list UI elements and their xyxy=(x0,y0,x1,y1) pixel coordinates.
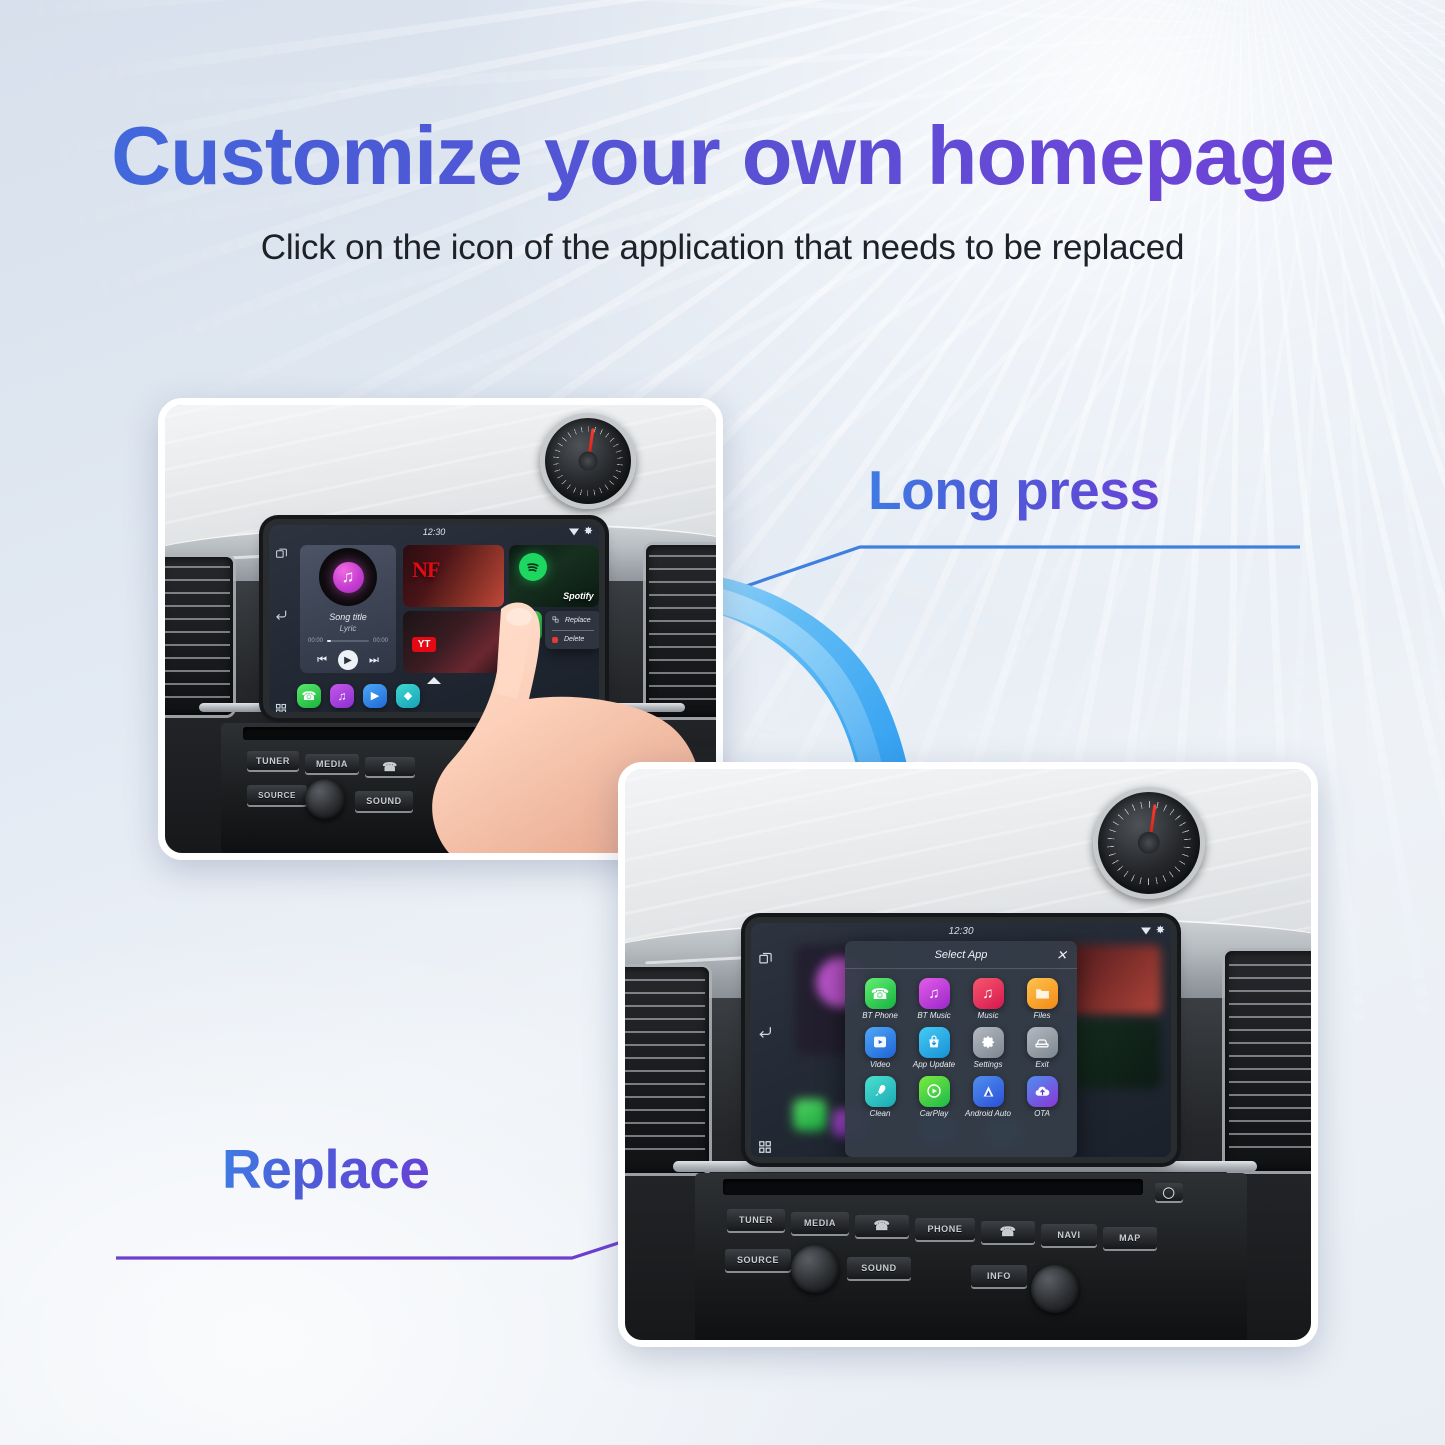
app-android-auto-label: Android Auto xyxy=(965,1110,1011,1119)
netflix-badge: NF xyxy=(412,557,439,583)
sidebar-two xyxy=(751,923,779,1157)
spotify-tile[interactable]: Spotify xyxy=(509,545,599,607)
dock-bt-phone[interactable]: ☎ xyxy=(297,684,321,708)
head-unit-screen-two: 12:30 ✸ xyxy=(751,923,1171,1157)
app-music-label: Music xyxy=(978,1012,999,1021)
tuner-button[interactable]: TUNER xyxy=(247,751,299,770)
media-button[interactable]: MEDIA xyxy=(305,754,359,773)
dock-bt-music[interactable]: ♫ xyxy=(330,684,354,708)
context-menu-replace[interactable]: Replace xyxy=(545,611,599,630)
status-bar-two: 12:30 ✸ xyxy=(751,923,1171,939)
progress-bar[interactable] xyxy=(327,640,369,642)
gear-icon xyxy=(973,1027,1004,1058)
wifi-icon xyxy=(1141,928,1151,935)
app-settings-label: Settings xyxy=(974,1061,1003,1070)
car-icon xyxy=(1027,1027,1058,1058)
source-button[interactable]: SOURCE xyxy=(247,785,307,805)
play-square-icon xyxy=(865,1027,896,1058)
app-video-label: Video xyxy=(870,1061,890,1070)
app-music[interactable]: ♫ Music xyxy=(961,978,1015,1021)
info-knob[interactable] xyxy=(1031,1265,1079,1313)
app-exit[interactable]: Exit xyxy=(1015,1027,1069,1070)
rocket-icon xyxy=(865,1076,896,1107)
radio-panel-one: TUNER MEDIA ☎ SOURCE SOUND xyxy=(221,723,641,853)
music-note-icon: ♫ xyxy=(333,562,364,593)
dialog-header: Select App ✕ xyxy=(845,941,1077,969)
air-vent-left-two xyxy=(625,967,709,1173)
dock-one[interactable]: ☎ ♫ ▶ ◆ xyxy=(269,682,599,712)
air-vent-right xyxy=(646,545,716,717)
bag-download-icon xyxy=(919,1027,950,1058)
context-menu-delete-label: Delete xyxy=(564,636,584,643)
tuner-button-two[interactable]: TUNER xyxy=(727,1209,785,1231)
app-exit-label: Exit xyxy=(1035,1061,1048,1070)
sound-button[interactable]: SOUND xyxy=(355,791,413,811)
cd-slot xyxy=(243,727,573,740)
cloud-upload-icon xyxy=(1027,1076,1058,1107)
map-button[interactable]: MAP xyxy=(1103,1227,1157,1249)
phone-bluetooth-icon: ☎ xyxy=(865,978,896,1009)
app-carplay-label: CarPlay xyxy=(920,1110,948,1119)
source-knob-two[interactable] xyxy=(791,1245,839,1293)
app-ota-label: OTA xyxy=(1034,1110,1050,1119)
dashboard-scene-two: 12:30 ✸ xyxy=(625,769,1311,1340)
chrome-trim-two xyxy=(673,1161,1257,1172)
time-elapsed: 00:00 xyxy=(308,638,323,644)
app-bt-music-label: BT Music xyxy=(917,1012,950,1021)
call-button-two[interactable]: ☎ xyxy=(855,1215,909,1237)
status-time-two: 12:30 xyxy=(948,926,973,937)
back-icon[interactable] xyxy=(757,1023,773,1044)
context-menu-delete[interactable]: Delete xyxy=(545,631,599,650)
song-title: Song title xyxy=(329,612,367,622)
app-bt-phone-label: BT Phone xyxy=(862,1012,898,1021)
air-vent-right-two xyxy=(1225,951,1311,1171)
photo-select-app: 12:30 ✸ xyxy=(618,762,1318,1347)
music-widget[interactable]: ♫ Song title Lyric 00:00 00:00 ⏮ ▶ ⏭ xyxy=(300,545,396,673)
app-clean[interactable]: Clean xyxy=(853,1076,907,1119)
app-update[interactable]: App Update xyxy=(907,1027,961,1070)
tachometer-gauge-two xyxy=(1093,787,1205,899)
app-android-auto[interactable]: Android Auto xyxy=(961,1076,1015,1119)
callout-replace: Replace xyxy=(222,1137,429,1201)
recents-icon[interactable] xyxy=(758,951,773,971)
media-button-two[interactable]: MEDIA xyxy=(791,1212,849,1234)
sound-button-two[interactable]: SOUND xyxy=(847,1257,911,1279)
screen-one: 12:30 ✸ xyxy=(269,525,599,712)
play-icon[interactable]: ▶ xyxy=(338,650,358,670)
eject-button[interactable]: ◯ xyxy=(1155,1183,1183,1201)
app-files-label: Files xyxy=(1034,1012,1051,1021)
hangup-button[interactable]: ☎ xyxy=(981,1221,1035,1243)
tachometer-gauge xyxy=(540,413,636,509)
app-grid[interactable]: ☎ BT Phone ♫ BT Music ♫ Music xyxy=(845,969,1077,1119)
app-video[interactable]: Video xyxy=(853,1027,907,1070)
navi-button[interactable]: NAVI xyxy=(1041,1224,1097,1246)
youtube-tile[interactable]: YT xyxy=(403,611,504,673)
back-icon[interactable] xyxy=(274,607,288,626)
dock-video[interactable]: ▶ xyxy=(363,684,387,708)
wifi-icon xyxy=(569,529,579,536)
page-subtitle: Click on the icon of the application tha… xyxy=(0,228,1445,268)
status-bar-one: 12:30 ✸ xyxy=(269,525,599,539)
app-bt-phone[interactable]: ☎ BT Phone xyxy=(853,978,907,1021)
bluetooth-icon: ✸ xyxy=(584,527,593,538)
info-button[interactable]: INFO xyxy=(971,1265,1027,1287)
android-auto-icon xyxy=(973,1076,1004,1107)
music-bluetooth-icon: ♫ xyxy=(919,978,950,1009)
radio-panel-two: TUNER MEDIA ☎ PHONE ☎ NAVI MAP SOURCE SO… xyxy=(695,1173,1247,1340)
netflix-tile[interactable]: NF xyxy=(403,545,504,607)
phone-tile-pressed[interactable]: ☎ xyxy=(509,611,542,641)
context-menu-replace-label: Replace xyxy=(565,617,591,624)
status-icons-two: ✸ xyxy=(1141,926,1165,937)
vinyl-record-icon: ♫ xyxy=(319,548,377,606)
youtube-badge: YT xyxy=(412,637,436,652)
app-ota[interactable]: OTA xyxy=(1015,1076,1069,1119)
page-title: Customize your own homepage xyxy=(0,108,1445,204)
phone-button[interactable]: PHONE xyxy=(915,1218,975,1240)
previous-icon[interactable]: ⏮ xyxy=(317,654,327,667)
call-button[interactable]: ☎ xyxy=(365,757,415,776)
bg-dock-green-blurred xyxy=(793,1099,827,1131)
player-controls[interactable]: ⏮ ▶ ⏭ xyxy=(317,650,379,670)
app-bt-music[interactable]: ♫ BT Music xyxy=(907,978,961,1021)
delete-icon xyxy=(552,637,558,643)
spotify-icon xyxy=(519,553,547,581)
app-settings[interactable]: Settings xyxy=(961,1027,1015,1070)
bluetooth-icon: ✸ xyxy=(1156,926,1165,937)
head-unit-screen-one: 12:30 ✸ xyxy=(269,525,599,712)
status-icons: ✸ xyxy=(569,527,593,538)
infographic-root: Customize your own homepage Click on the… xyxy=(0,0,1445,1445)
app-clean-label: Clean xyxy=(870,1110,891,1119)
progress-row[interactable]: 00:00 00:00 xyxy=(308,638,388,644)
spotify-label: Spotify xyxy=(563,591,594,601)
music-note-icon: ♫ xyxy=(973,978,1004,1009)
carplay-icon xyxy=(919,1076,950,1107)
time-total: 00:00 xyxy=(373,638,388,644)
swap-icon xyxy=(552,616,559,625)
recents-icon[interactable] xyxy=(275,547,288,565)
apps-grid-icon[interactable] xyxy=(758,1140,772,1157)
source-knob[interactable] xyxy=(305,779,345,819)
next-icon[interactable]: ⏭ xyxy=(369,654,379,667)
folder-icon xyxy=(1027,978,1058,1009)
cd-slot-two xyxy=(723,1179,1143,1195)
screen-two: 12:30 ✸ xyxy=(751,923,1171,1157)
context-menu[interactable]: Replace Delete xyxy=(545,611,599,649)
dock-app[interactable]: ◆ xyxy=(396,684,420,708)
status-time: 12:30 xyxy=(423,527,446,537)
callout-long-press: Long press xyxy=(868,458,1159,522)
app-files[interactable]: Files xyxy=(1015,978,1069,1021)
app-update-label: App Update xyxy=(913,1061,955,1070)
select-app-dialog[interactable]: Select App ✕ ☎ BT Phone ♫ BT Music xyxy=(845,941,1077,1157)
source-button-two[interactable]: SOURCE xyxy=(725,1249,791,1271)
close-icon[interactable]: ✕ xyxy=(1056,948,1067,961)
app-carplay[interactable]: CarPlay xyxy=(907,1076,961,1119)
air-vent-left xyxy=(165,557,233,715)
dialog-title: Select App xyxy=(935,949,988,961)
song-lyric: Lyric xyxy=(340,624,357,633)
